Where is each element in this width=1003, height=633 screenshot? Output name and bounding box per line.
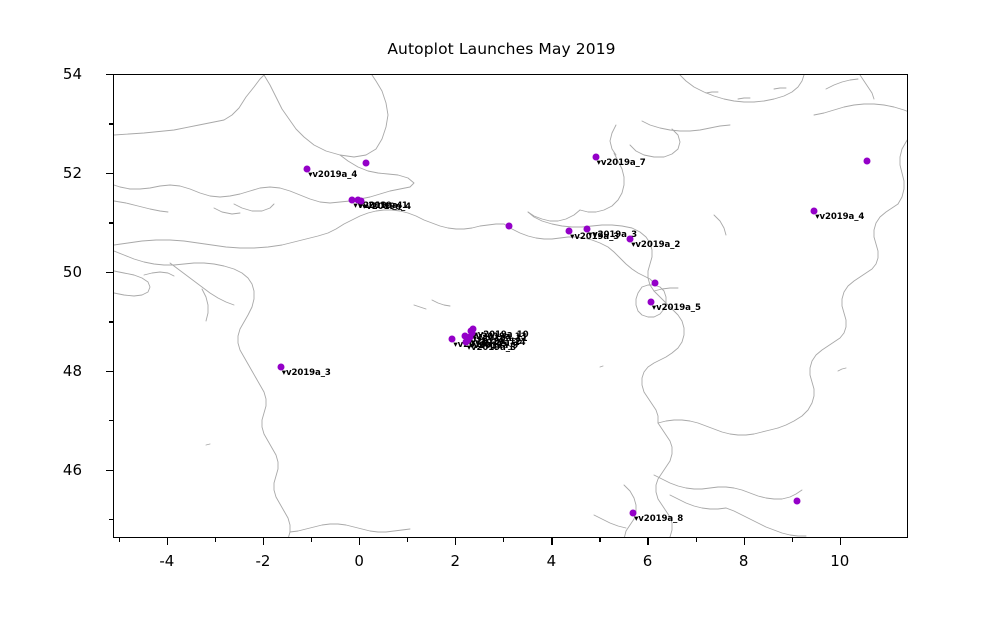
x-tick-label: 6: [643, 552, 653, 570]
scatter-point-label: ▾v2019a_5: [652, 303, 701, 313]
x-tick-label: 10: [830, 552, 849, 570]
x-minor-tick: [599, 538, 600, 542]
y-minor-tick: [109, 519, 113, 520]
x-major-tick: [840, 538, 841, 545]
y-tick-label: 48: [63, 362, 82, 380]
x-major-tick: [167, 538, 168, 545]
x-tick-label: -4: [159, 552, 174, 570]
scatter-point-label: ▾v2019a_4: [362, 202, 411, 212]
y-minor-tick: [109, 222, 113, 223]
figure-canvas: Autoplot Launches May 2019: [0, 0, 1003, 633]
x-minor-tick: [792, 538, 793, 542]
x-tick-label: 0: [354, 552, 364, 570]
scatter-point[interactable]: [864, 158, 871, 165]
x-minor-tick: [696, 538, 697, 542]
scatter-point[interactable]: [794, 498, 801, 505]
scatter-point-label: ▾v2019a_3: [282, 368, 331, 378]
scatter-point-label: ▾v2019a_8: [634, 514, 683, 524]
x-minor-tick: [407, 538, 408, 542]
plot-area[interactable]: ▾v2019a_4▾v2019a_4▾v2019a_1▾v2019a_4▾v20…: [113, 74, 908, 538]
y-tick-label: 54: [63, 65, 82, 83]
y-major-tick: [106, 371, 113, 372]
scatter-point-label: ▾v2019a_7: [597, 158, 646, 168]
page-title: Autoplot Launches May 2019: [0, 40, 1003, 58]
y-major-tick: [106, 272, 113, 273]
y-tick-label: 46: [63, 461, 82, 479]
x-tick-label: 2: [450, 552, 460, 570]
x-major-tick: [263, 538, 264, 545]
scatter-point-label: ▾v2019a_8: [467, 343, 516, 353]
x-major-tick: [551, 538, 552, 545]
y-minor-tick: [109, 321, 113, 322]
scatter-point-label: ▾v2019a_2: [631, 240, 680, 250]
y-major-tick: [106, 470, 113, 471]
scatter-point[interactable]: [506, 222, 513, 229]
x-major-tick: [455, 538, 456, 545]
x-minor-tick: [311, 538, 312, 542]
x-tick-label: 8: [739, 552, 749, 570]
scatter-points-layer: ▾v2019a_4▾v2019a_4▾v2019a_1▾v2019a_4▾v20…: [114, 75, 908, 538]
x-major-tick: [359, 538, 360, 545]
x-minor-tick: [215, 538, 216, 542]
scatter-point[interactable]: [651, 279, 658, 286]
scatter-point-label: ▾v2019a_4: [308, 170, 357, 180]
y-major-tick: [106, 173, 113, 174]
x-major-tick: [744, 538, 745, 545]
y-tick-label: 50: [63, 263, 82, 281]
x-tick-label: 4: [547, 552, 557, 570]
x-minor-tick: [119, 538, 120, 542]
scatter-point-label: ▾v2019a_4: [815, 212, 864, 222]
x-minor-tick: [503, 538, 504, 542]
x-major-tick: [647, 538, 648, 545]
y-major-tick: [106, 74, 113, 75]
y-minor-tick: [109, 420, 113, 421]
x-tick-label: -2: [255, 552, 270, 570]
y-tick-label: 52: [63, 164, 82, 182]
y-minor-tick: [109, 123, 113, 124]
scatter-point[interactable]: [362, 160, 369, 167]
